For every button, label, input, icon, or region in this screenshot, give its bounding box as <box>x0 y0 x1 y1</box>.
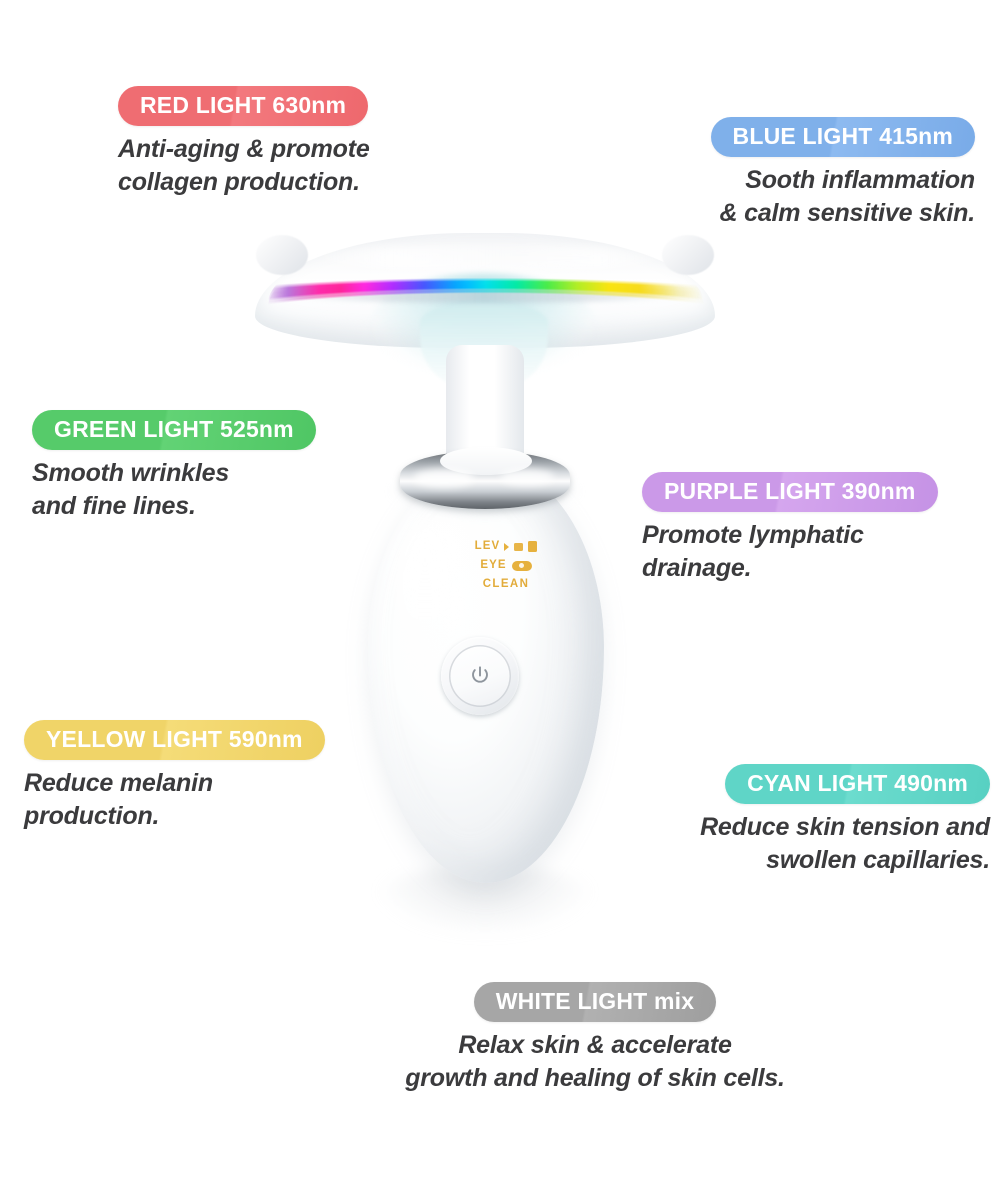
level-label: LEV <box>475 541 501 553</box>
clean-label: CLEAN <box>483 579 530 591</box>
callout-white-light: WHITE LIGHT mix Relax skin & accelerate … <box>345 982 845 1094</box>
callout-white-light-description: Relax skin & accelerate growth and heali… <box>345 1029 845 1094</box>
collar-gloss-right <box>500 469 554 485</box>
eye-icon <box>512 561 532 571</box>
indicator-row-level: LEV <box>446 537 566 556</box>
callout-cyan-light-description: Reduce skin tension and swollen capillar… <box>650 811 990 876</box>
level-bar-icon-1 <box>514 543 523 551</box>
callout-cyan-light-title: CYAN LIGHT 490nm <box>725 764 990 804</box>
callout-cyan-light: CYAN LIGHT 490nm Reduce skin tension and… <box>650 764 990 876</box>
power-icon <box>469 665 491 687</box>
callout-white-light-title: WHITE LIGHT mix <box>474 982 717 1022</box>
callout-purple-light: PURPLE LIGHT 390nm Promote lymphatic dra… <box>642 472 972 584</box>
indicator-row-clean: CLEAN <box>446 575 566 594</box>
rainbow-led-strip <box>268 238 704 316</box>
power-button[interactable] <box>441 637 519 715</box>
indicator-row-eye: EYE <box>446 556 566 575</box>
callout-blue-light-title: BLUE LIGHT 415nm <box>711 117 975 157</box>
callout-blue-light-description: Sooth inflammation & calm sensitive skin… <box>655 164 975 229</box>
callout-green-light: GREEN LIGHT 525nm Smooth wrinkles and fi… <box>32 410 352 522</box>
callout-red-light-title: RED LIGHT 630nm <box>118 86 368 126</box>
callout-red-light: RED LIGHT 630nm Anti-aging & promote col… <box>118 86 448 198</box>
eye-label: EYE <box>480 560 506 572</box>
callout-purple-light-title: PURPLE LIGHT 390nm <box>642 472 938 512</box>
infographic-canvas: LEV EYE CLEAN RED LIGH <box>0 0 1000 1184</box>
callout-green-light-description: Smooth wrinkles and fine lines. <box>32 457 352 522</box>
power-button-ring <box>449 645 511 707</box>
level-bar-icon-2 <box>528 541 537 552</box>
callout-yellow-light-description: Reduce melanin production. <box>24 767 354 832</box>
callout-yellow-light: YELLOW LIGHT 590nm Reduce melanin produc… <box>24 720 354 832</box>
level-arrow-icon <box>504 543 509 551</box>
callout-green-light-title: GREEN LIGHT 525nm <box>32 410 316 450</box>
callout-red-light-description: Anti-aging & promote collagen production… <box>118 133 448 198</box>
device-head-tip-left <box>256 235 308 275</box>
device-indicator-panel: LEV EYE CLEAN <box>446 537 566 594</box>
device-head-tip-right <box>662 235 714 275</box>
callout-yellow-light-title: YELLOW LIGHT 590nm <box>24 720 325 760</box>
collar-gloss-left <box>414 469 474 487</box>
callout-purple-light-description: Promote lymphatic drainage. <box>642 519 972 584</box>
callout-blue-light: BLUE LIGHT 415nm Sooth inflammation & ca… <box>655 117 975 229</box>
